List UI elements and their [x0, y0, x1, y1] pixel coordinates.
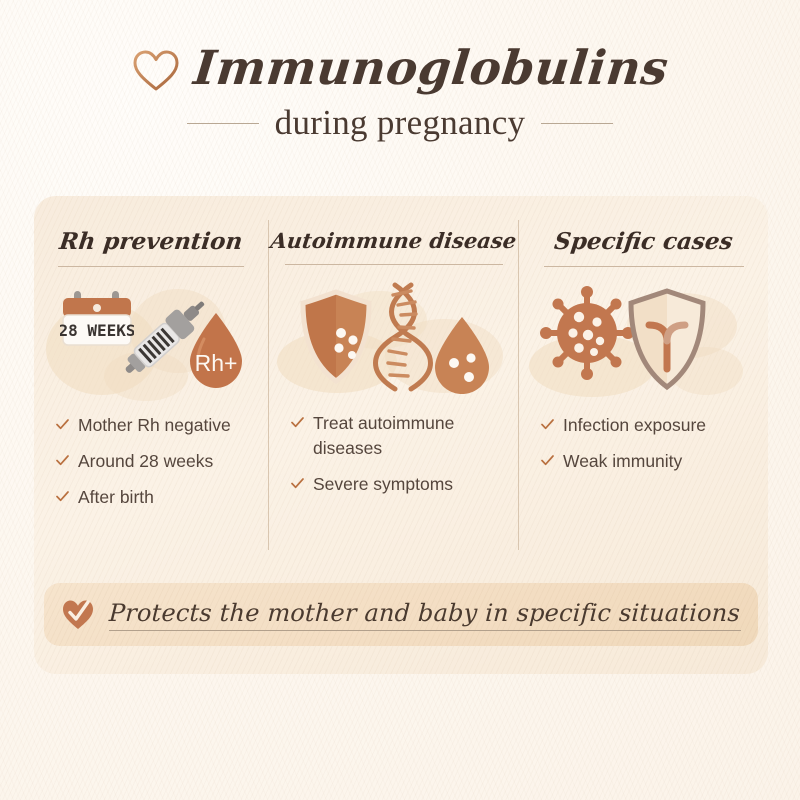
banner-text: Protects the mother and baby in specific…: [109, 599, 741, 627]
subtitle-row: during pregnancy: [0, 103, 800, 143]
banner-text-wrap: Protects the mother and baby in specific…: [109, 599, 740, 631]
heading-rule: [285, 264, 503, 265]
shield-antibody-icon: [623, 287, 711, 396]
virus-icon: [539, 285, 635, 386]
banner-underline: [109, 630, 740, 631]
check-icon: [291, 416, 304, 429]
heading-rule: [544, 266, 744, 267]
list-item: After birth: [56, 485, 268, 510]
list-item-label: Weak immunity: [563, 449, 682, 474]
page-title: Immunoglobulins: [191, 44, 670, 93]
heart-check-icon: [61, 598, 95, 631]
list-item-label: Severe symptoms: [313, 472, 453, 497]
decorative-dash-left: [187, 123, 259, 124]
list-item: Severe symptoms: [291, 472, 518, 497]
list-item-label: Treat autoimmune diseases: [313, 411, 473, 461]
title-row: Immunoglobulins: [0, 44, 800, 93]
blood-drop-icon: [429, 315, 495, 402]
dna-helix-icon: [373, 281, 433, 398]
list-item: Treat autoimmune diseases: [291, 411, 518, 461]
icon-group-rh-prevention: 28 WEEKS: [34, 277, 268, 405]
list-item: Weak immunity: [541, 449, 768, 474]
list-item-label: Around 28 weeks: [78, 449, 213, 474]
list-item: Infection exposure: [541, 413, 768, 438]
blood-drop-icon: Rh+: [184, 311, 248, 396]
list-item-label: After birth: [78, 485, 154, 510]
bullet-list-rh-prevention: Mother Rh negative Around 28 weeks After…: [56, 413, 268, 510]
list-item: Mother Rh negative: [56, 413, 268, 438]
shield-icon: [297, 289, 375, 390]
check-icon: [56, 418, 69, 431]
heart-outline-icon: [132, 49, 180, 93]
check-icon: [56, 454, 69, 467]
column-heading-autoimmune-disease: Autoimmune disease: [267, 228, 519, 253]
list-item-label: Mother Rh negative: [78, 413, 231, 438]
list-item-label: Infection exposure: [563, 413, 706, 438]
decorative-dash-right: [541, 123, 613, 124]
page-subtitle: during pregnancy: [275, 103, 526, 143]
icon-group-autoimmune-disease: [269, 275, 518, 403]
blood-drop-label: Rh+: [195, 350, 238, 376]
check-icon: [541, 454, 554, 467]
icon-group-specific-cases: [519, 277, 768, 405]
list-item: Around 28 weeks: [56, 449, 268, 474]
bullet-list-autoimmune-disease: Treat autoimmune diseases Severe symptom…: [291, 411, 518, 497]
column-heading-rh-prevention: Rh prevention: [34, 228, 270, 255]
column-heading-specific-cases: Specific cases: [517, 228, 768, 255]
summary-banner: Protects the mother and baby in specific…: [44, 583, 758, 646]
page-header: Immunoglobulins during pregnancy: [0, 44, 800, 143]
check-icon: [541, 418, 554, 431]
heading-rule: [58, 266, 244, 267]
check-icon: [56, 490, 69, 503]
check-icon: [291, 477, 304, 490]
bullet-list-specific-cases: Infection exposure Weak immunity: [541, 413, 768, 474]
